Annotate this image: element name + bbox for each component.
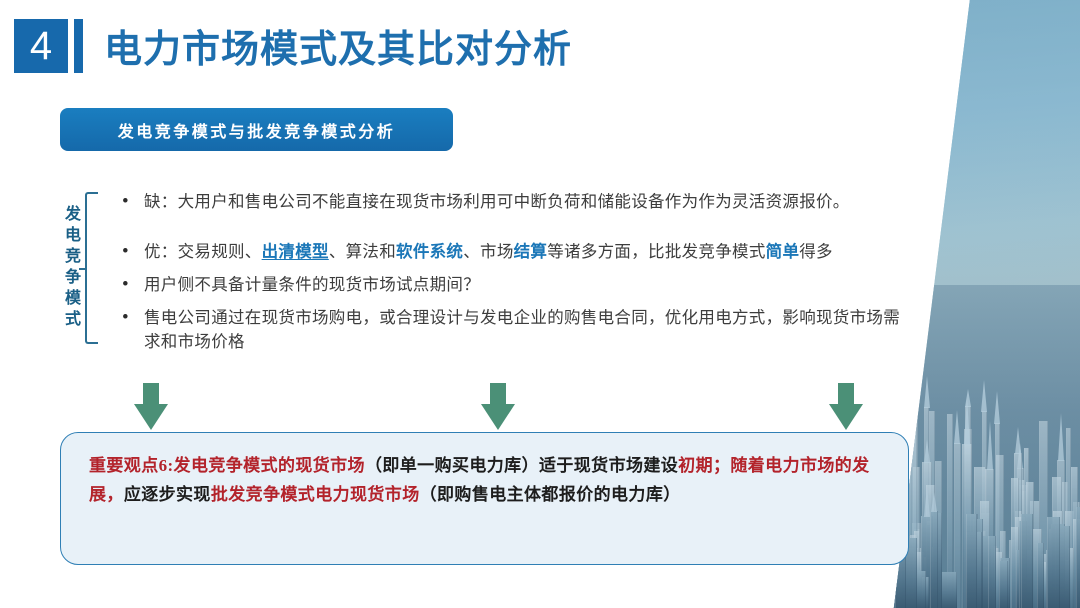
bullet-text: 优：交易规则、出清模型、算法和软件系统、市场结算等诸多方面，比批发竞争模式简单得…: [144, 240, 912, 264]
list-item: • 优：交易规则、出清模型、算法和软件系统、市场结算等诸多方面，比批发竞争模式简…: [122, 240, 912, 264]
text-run: 、算法和: [329, 242, 396, 261]
down-arrow-left-icon: [134, 383, 168, 430]
city-skyline: [890, 285, 1080, 608]
cityscape-photo-panel: [890, 0, 1080, 608]
section-subtitle-badge: 发电竞争模式与批发竞争模式分析: [60, 108, 453, 151]
building-spire: [1058, 413, 1064, 461]
vertical-category-label: 发电竞争模式: [62, 205, 78, 331]
conclusion-callout-box: 重要观点6:发电竞争模式的现货市场（即单一购买电力库）适于现货市场建设初期；随着…: [60, 432, 909, 565]
bullet-text: 用户侧不具备计量条件的现货市场试点期间？: [144, 273, 912, 297]
text-run: 结算: [514, 242, 548, 261]
arrow-head: [829, 404, 863, 430]
bullet-marker: •: [122, 273, 144, 297]
arrow-head: [134, 404, 168, 430]
bullet-text: 售电公司通过在现货市场购电，或合理设计与发电企业的购售电合同，优化用电方式，影响…: [144, 306, 912, 354]
building: [1037, 543, 1044, 608]
list-item: • 缺：大用户和售电公司不能直接在现货市场利用可中断负荷和储能设备作为作为灵活资…: [122, 190, 912, 214]
text-run: 重要观点6:发电竞争模式的现货市场: [89, 456, 365, 475]
title-divider-rule: [74, 19, 83, 73]
text-run: 简单: [766, 242, 800, 261]
grouping-bracket: [85, 192, 98, 344]
building: [930, 511, 939, 608]
bullet-marker: •: [122, 240, 144, 264]
text-run: （即单一购买电力库）适于现货市场建设: [365, 456, 678, 475]
arrow-shaft: [490, 383, 506, 406]
text-run: 优：交易规则、: [144, 242, 262, 261]
text-run: 批发竞争模式电力现货市场: [211, 485, 420, 504]
text-run: 缺：大用户和售电公司不能直接在现货市场利用可中断负荷和储能设备作为作为灵活资源报…: [144, 192, 850, 211]
text-run: 售电公司通过在现货市场购电，或合理设计与发电企业的购售电合同，优化用电方式，影响…: [144, 308, 900, 351]
text-run: 用户侧不具备计量条件的现货市场试点期间？: [144, 275, 480, 294]
building: [941, 572, 957, 608]
side-label-group: 发电竞争模式: [62, 192, 98, 344]
building-spire: [924, 376, 930, 408]
text-run: 得多: [799, 242, 833, 261]
text-run: 软件系统: [396, 242, 463, 261]
arrow-head: [481, 404, 515, 430]
slide-header: 4 电力市场模式及其比对分析: [14, 18, 572, 73]
down-arrow-center-icon: [481, 383, 515, 430]
text-run: 、市场: [463, 242, 513, 261]
building: [1076, 507, 1080, 608]
building: [1021, 514, 1034, 608]
building-spire: [931, 492, 937, 512]
list-item: • 用户侧不具备计量条件的现货市场试点期间？: [122, 273, 912, 297]
page-title: 电力市场模式及其比对分析: [104, 18, 572, 73]
building-spire: [954, 410, 960, 444]
building-spire: [924, 439, 930, 463]
list-item: • 售电公司通过在现货市场购电，或合理设计与发电企业的购售电合同，优化用电方式，…: [122, 306, 912, 354]
down-arrow-right-icon: [829, 383, 863, 430]
sky-background: [890, 0, 1080, 300]
bullet-text: 缺：大用户和售电公司不能直接在现货市场利用可中断负荷和储能设备作为作为灵活资源报…: [144, 190, 912, 214]
bullet-list: • 缺：大用户和售电公司不能直接在现货市场利用可中断负荷和储能设备作为作为灵活资…: [122, 190, 912, 354]
section-number-badge: 4: [14, 19, 68, 73]
arrow-shaft: [143, 383, 159, 406]
building: [966, 514, 976, 608]
bullet-marker: •: [122, 190, 144, 214]
arrow-shaft: [838, 383, 854, 406]
bullet-marker: •: [122, 306, 144, 330]
building-spire: [964, 397, 970, 445]
text-run: 出清模型: [262, 242, 329, 261]
building-spire: [994, 391, 1000, 424]
text-run: （即购售电主体都报价的电力库）: [420, 485, 681, 504]
building-spire: [981, 380, 987, 412]
building: [988, 536, 996, 608]
building: [999, 561, 1008, 608]
building-spire: [1015, 427, 1021, 454]
conclusion-text: 重要观点6:发电竞争模式的现货市场（即单一购买电力库）适于现货市场建设初期；随着…: [89, 451, 884, 509]
text-run: 应逐步实现: [124, 485, 211, 504]
text-run: 等诸多方面，比批发竞争模式: [547, 242, 765, 261]
building-spire: [987, 421, 993, 470]
building: [1047, 517, 1061, 608]
